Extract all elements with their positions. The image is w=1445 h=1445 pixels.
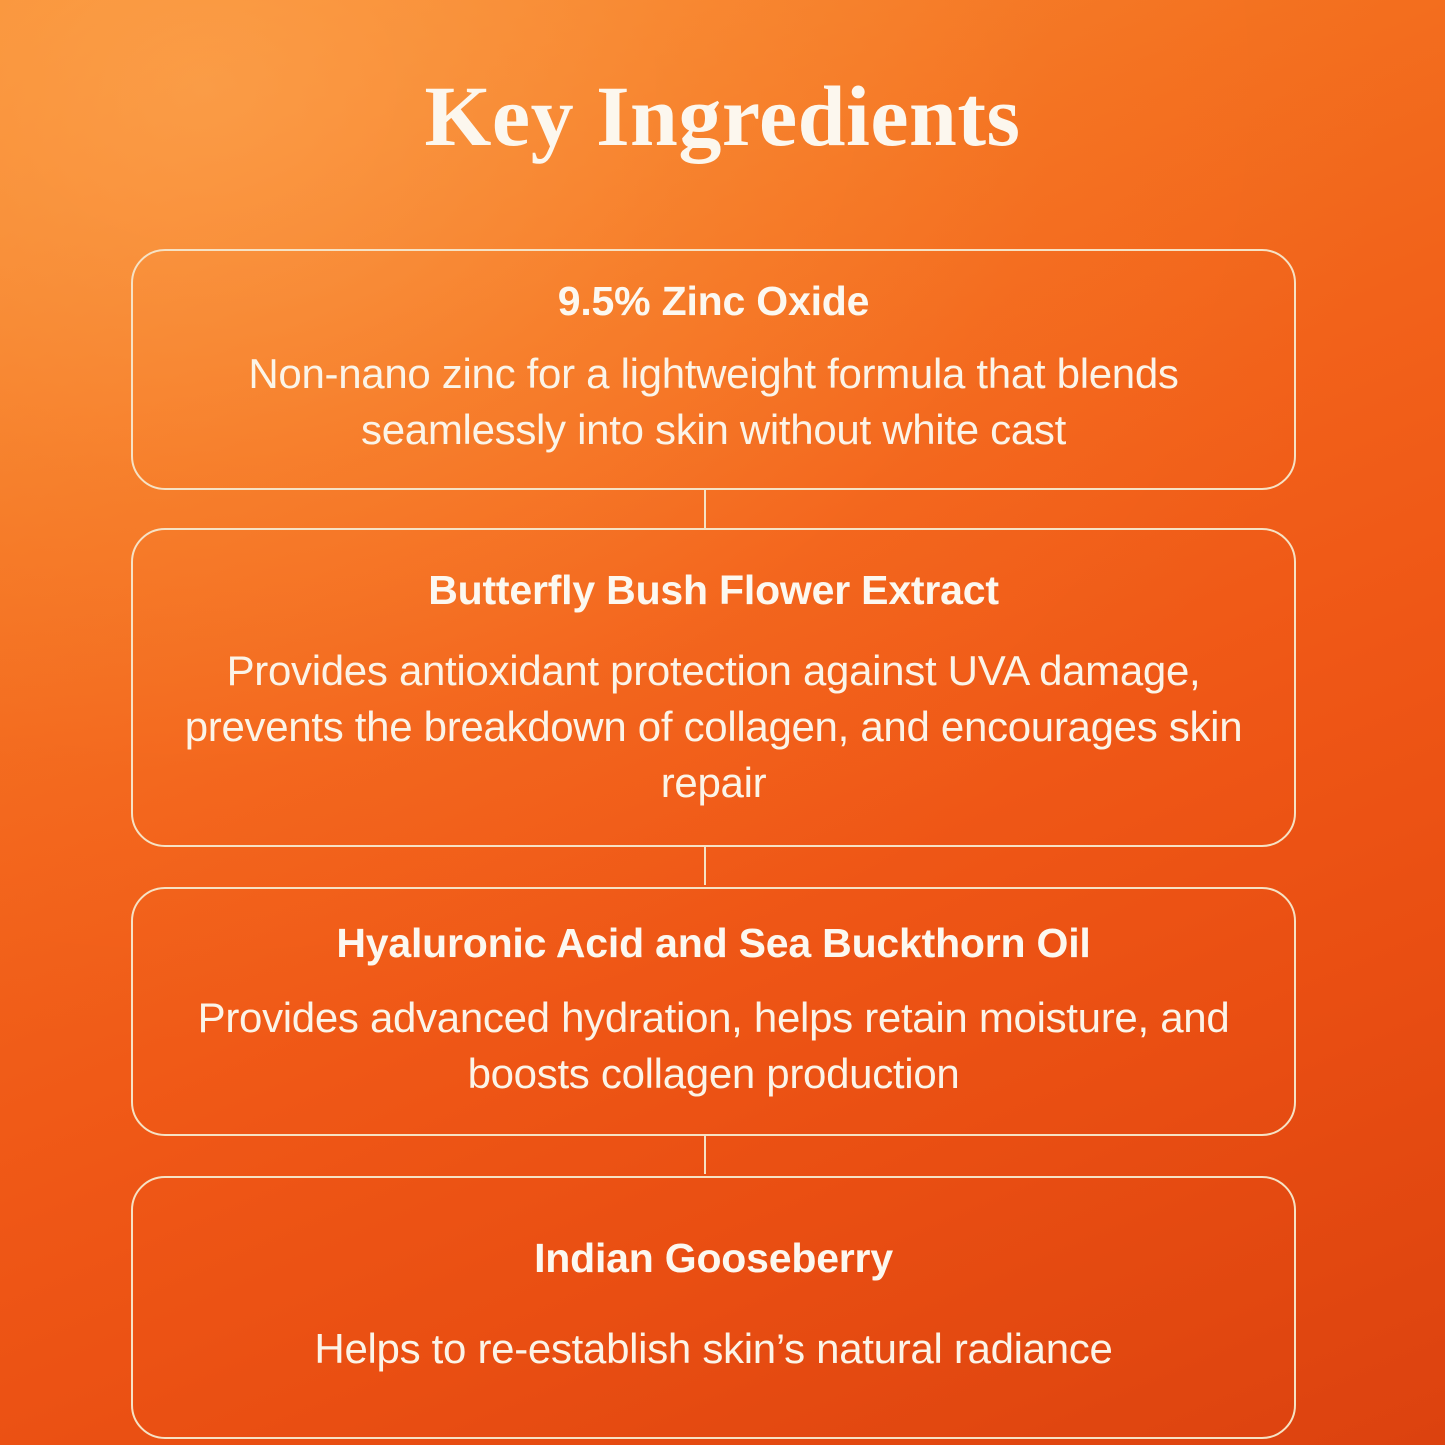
card-connector-line — [704, 845, 706, 885]
ingredient-heading: Hyaluronic Acid and Sea Buckthorn Oil — [177, 919, 1250, 968]
ingredient-heading: Butterfly Bush Flower Extract — [177, 566, 1250, 615]
card-connector-line — [704, 1134, 706, 1174]
ingredient-description: Provides advanced hydration, helps retai… — [177, 990, 1250, 1102]
ingredient-heading: 9.5% Zinc Oxide — [177, 277, 1250, 326]
ingredient-card-list: 9.5% Zinc Oxide Non-nano zinc for a ligh… — [131, 249, 1296, 1439]
page-title: Key Ingredients — [0, 73, 1445, 159]
card-connector-line — [704, 488, 706, 528]
ingredient-card: Butterfly Bush Flower Extract Provides a… — [131, 528, 1296, 847]
ingredient-card: 9.5% Zinc Oxide Non-nano zinc for a ligh… — [131, 249, 1296, 490]
ingredient-card: Hyaluronic Acid and Sea Buckthorn Oil Pr… — [131, 887, 1296, 1136]
key-ingredients-infographic: Key Ingredients 9.5% Zinc Oxide Non-nano… — [0, 0, 1445, 1445]
ingredient-heading: Indian Gooseberry — [177, 1234, 1250, 1283]
ingredient-description: Non-nano zinc for a lightweight formula … — [177, 346, 1250, 458]
ingredient-description: Provides antioxidant protection against … — [177, 643, 1250, 811]
ingredient-description: Helps to re-establish skin’s natural rad… — [177, 1321, 1250, 1377]
ingredient-card: Indian Gooseberry Helps to re-establish … — [131, 1176, 1296, 1439]
